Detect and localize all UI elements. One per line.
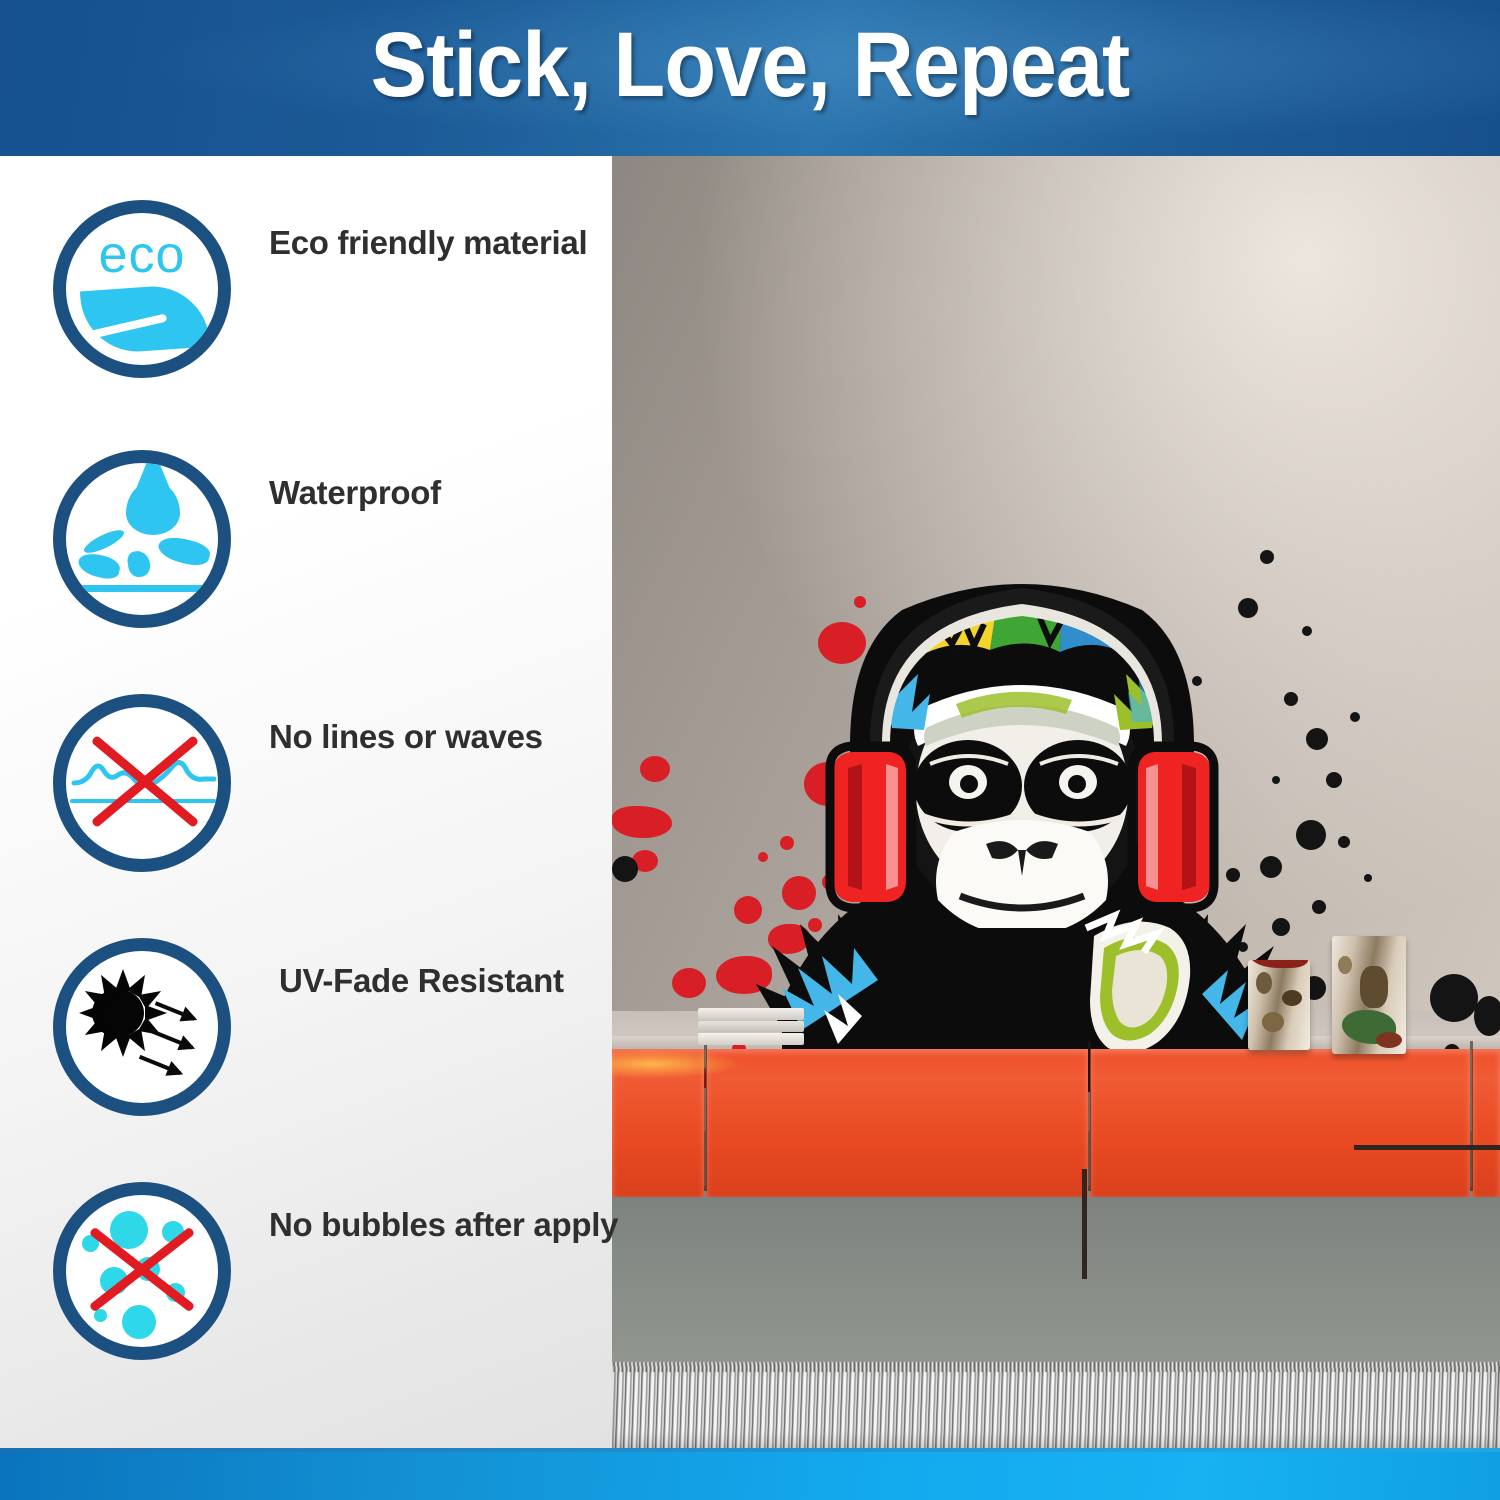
black-splatter	[612, 856, 638, 882]
power-cord	[1354, 1145, 1500, 1150]
eco-badge-text: eco	[66, 229, 218, 281]
feature-label-no-bubbles: No bubbles after apply	[269, 1206, 618, 1244]
header-banner: Stick, Love, Repeat	[0, 0, 1500, 156]
water-drop-icon	[53, 450, 231, 628]
black-splatter	[1430, 974, 1478, 1022]
bubble	[122, 1305, 156, 1339]
shag-rug	[612, 1372, 1500, 1448]
black-splatter	[1338, 836, 1350, 848]
feature-label-uv: UV-Fade Resistant	[279, 962, 564, 1000]
decorative-vase-large	[1332, 936, 1406, 1054]
wall-decal-graphic	[612, 156, 1500, 1448]
splash-center	[126, 550, 151, 579]
bench-segment	[1090, 1049, 1470, 1197]
bench-seam	[1470, 1041, 1473, 1191]
black-splatter	[1306, 728, 1328, 750]
droplet-shape	[126, 481, 180, 535]
book	[698, 1033, 804, 1045]
orange-bench	[612, 1049, 1500, 1197]
no-bubbles-icon	[53, 1182, 231, 1360]
black-splatter	[1474, 996, 1500, 1036]
feature-row-no-waves: No lines or waves	[0, 694, 612, 894]
feature-row-waterproof: Waterproof	[0, 450, 612, 650]
stacked-books	[698, 1008, 806, 1050]
red-splatter	[640, 756, 670, 782]
product-infographic: Stick, Love, Repeat	[0, 0, 1500, 1500]
decorative-vase-small	[1248, 960, 1310, 1050]
feature-panel: eco Eco friendly material Waterproof	[0, 156, 612, 1448]
splash-right	[156, 532, 213, 569]
chimpanzee-svg	[742, 532, 1302, 1092]
book	[698, 1008, 804, 1020]
red-splatter	[612, 806, 672, 838]
bench-seam	[704, 1041, 707, 1191]
red-splatter	[672, 968, 706, 998]
book	[698, 1021, 804, 1032]
bench-segment	[1472, 1049, 1500, 1197]
eco-leaf-icon: eco	[53, 200, 231, 378]
vase-pattern	[1360, 966, 1388, 1008]
feature-row-no-bubbles: No bubbles after apply	[0, 1182, 612, 1382]
black-splatter	[1350, 712, 1360, 722]
no-waves-icon	[53, 694, 231, 872]
feature-row-uv: UV-Fade Resistant	[0, 938, 612, 1138]
black-splatter	[1312, 900, 1326, 914]
vase-pattern	[1262, 1012, 1284, 1032]
black-splatter	[1364, 874, 1372, 882]
black-splatter	[1302, 626, 1312, 636]
sun-uv-icon	[53, 938, 231, 1116]
water-surface-line	[76, 585, 208, 592]
feature-label-no-waves: No lines or waves	[269, 718, 543, 756]
room-photo	[612, 156, 1500, 1448]
page-title: Stick, Love, Repeat	[60, 14, 1440, 117]
feature-row-eco: eco Eco friendly material	[0, 200, 612, 400]
leaf-shape	[80, 283, 210, 356]
bench-segment	[706, 1049, 1088, 1197]
vase-pattern	[1338, 956, 1352, 974]
splash-left-low	[76, 551, 122, 581]
vase-pattern	[1376, 1032, 1402, 1048]
power-cord	[1082, 1169, 1087, 1279]
vase-pattern	[1282, 990, 1302, 1006]
feature-label-eco: Eco friendly material	[269, 224, 587, 262]
vase-twigs	[1250, 960, 1308, 968]
footer-banner	[0, 1448, 1500, 1500]
bench-seam	[1088, 1041, 1091, 1191]
feature-label-waterproof: Waterproof	[269, 474, 441, 512]
vase-pattern	[1256, 972, 1272, 994]
chimpanzee-decal	[742, 532, 1302, 1092]
black-splatter	[1326, 772, 1342, 788]
splash-left	[81, 526, 126, 557]
bench-highlight	[612, 1049, 742, 1079]
uv-ray-arrow	[139, 1055, 181, 1075]
